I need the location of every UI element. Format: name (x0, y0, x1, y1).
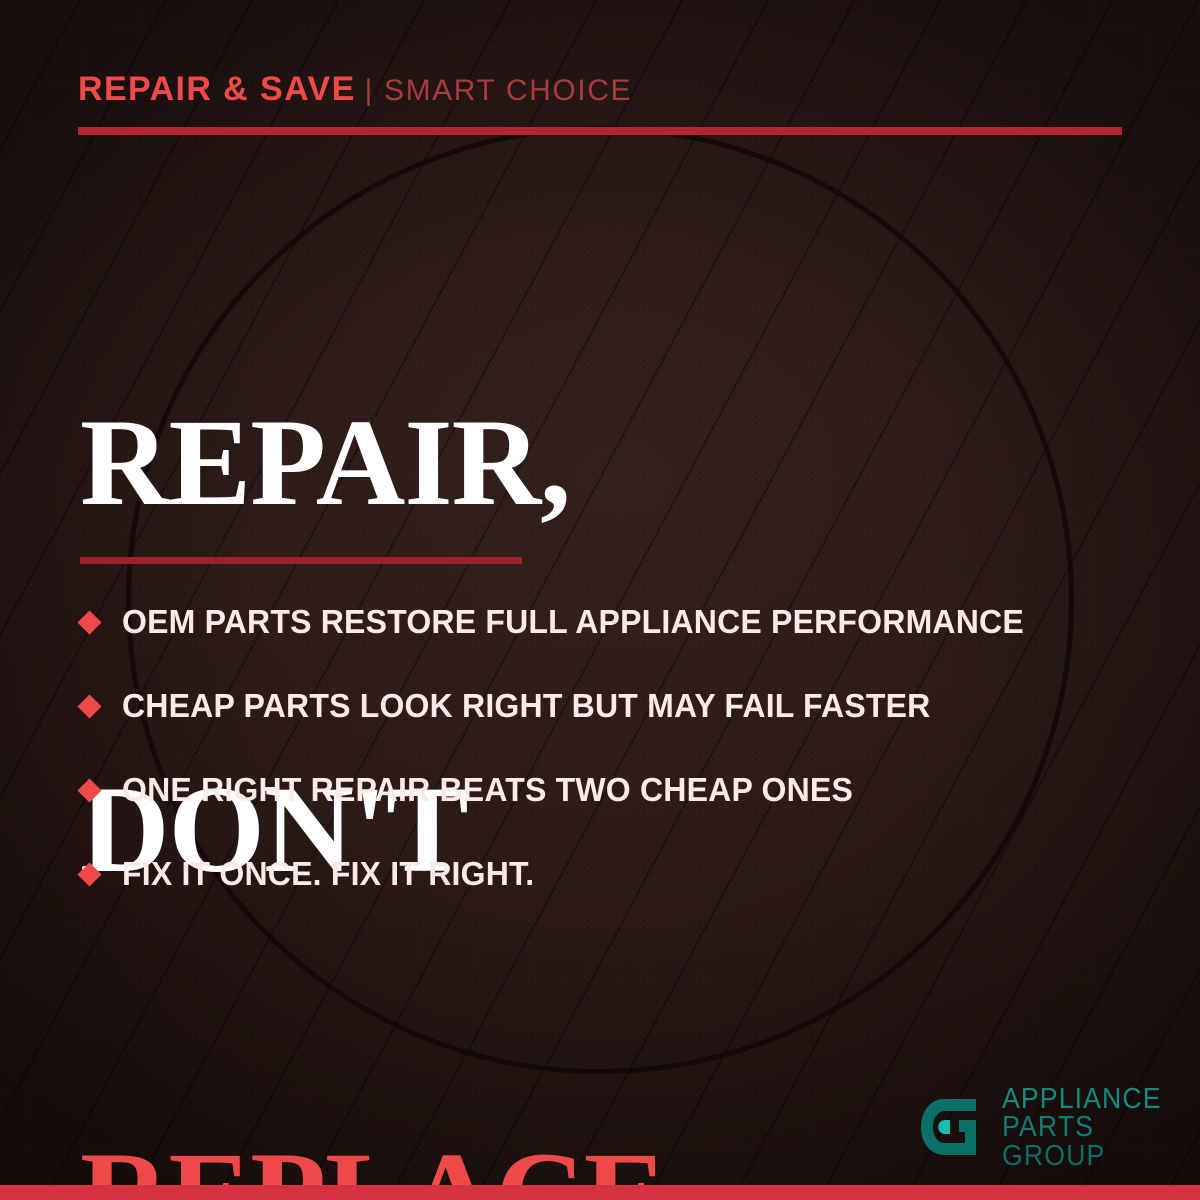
promo-poster: REPAIR & SAVE| SMART CHOICE REPAIR, DON'… (0, 0, 1200, 1200)
list-item: OEM PARTS RESTORE FULL APPLIANCE PERFORM… (78, 580, 1148, 664)
g-monogram-icon (914, 1089, 990, 1165)
eyebrow-light-text: | SMART CHOICE (365, 74, 632, 107)
header-divider-rule (78, 127, 1122, 135)
eyebrow-strong-text: REPAIR & SAVE (78, 70, 356, 108)
diamond-icon (77, 862, 101, 886)
list-item-label: ONE RIGHT REPAIR BEATS TWO CHEAP ONES (122, 771, 853, 809)
list-item: FIX IT ONCE. FIX IT RIGHT. (78, 832, 1148, 916)
list-item-label: CHEAP PARTS LOOK RIGHT BUT MAY FAIL FAST… (122, 687, 930, 725)
bullets-divider-rule (80, 557, 522, 564)
list-item-label: OEM PARTS RESTORE FULL APPLIANCE PERFORM… (122, 603, 1024, 641)
bottom-accent-strip (0, 1185, 1200, 1200)
benefit-list: OEM PARTS RESTORE FULL APPLIANCE PERFORM… (78, 580, 1148, 916)
brand-word-parts: PARTS (1002, 1113, 1162, 1141)
diamond-icon (77, 778, 101, 802)
headline-line-1: REPAIR, (80, 402, 696, 524)
diamond-icon (77, 694, 101, 718)
list-item-label: FIX IT ONCE. FIX IT RIGHT. (122, 855, 534, 893)
brand-wordmark: APPLIANCE PARTS GROUP (1002, 1085, 1176, 1170)
poster-content: REPAIR & SAVE| SMART CHOICE REPAIR, DON'… (0, 0, 1200, 1200)
brand-word-appliance: APPLIANCE (1002, 1085, 1162, 1113)
brand-logo: APPLIANCE PARTS GROUP (914, 1085, 1176, 1170)
list-item: ONE RIGHT REPAIR BEATS TWO CHEAP ONES (78, 748, 1148, 832)
eyebrow: REPAIR & SAVE| SMART CHOICE (78, 72, 632, 106)
list-item: CHEAP PARTS LOOK RIGHT BUT MAY FAIL FAST… (78, 664, 1148, 748)
diamond-icon (77, 610, 101, 634)
brand-word-group: GROUP (1002, 1142, 1162, 1170)
